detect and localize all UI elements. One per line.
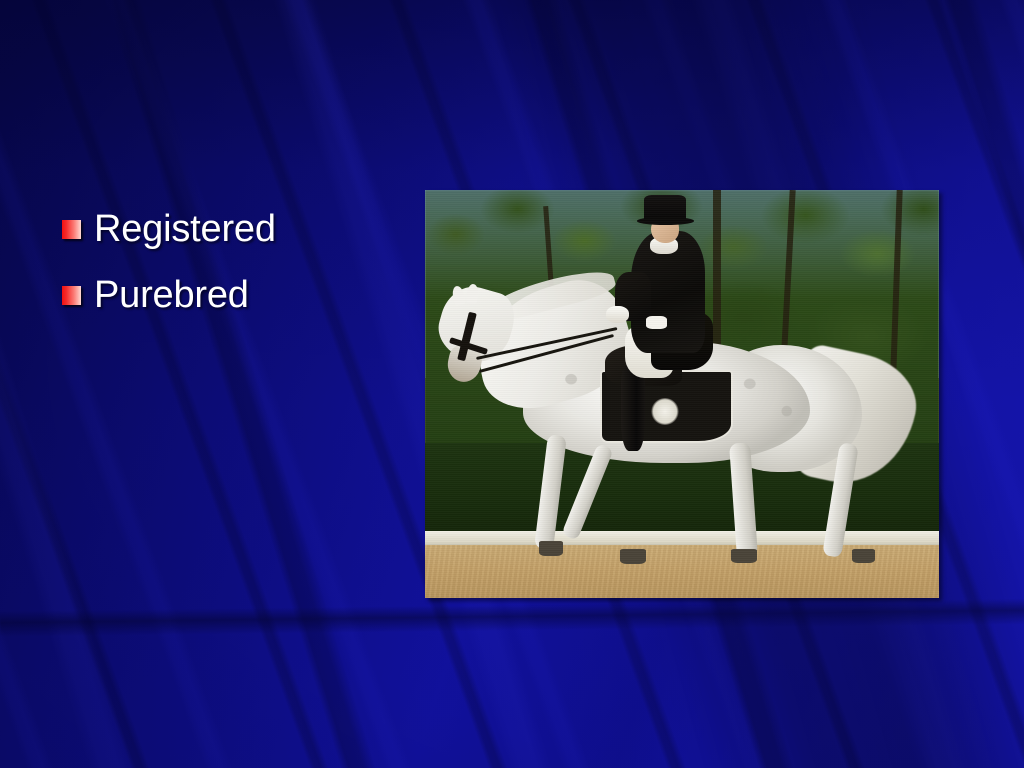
photo-horse-ear — [466, 283, 479, 303]
photo-rider-hat-brim — [637, 217, 694, 225]
slide-canvas: Registered Purebred — [0, 0, 1024, 768]
square-bullet-icon — [62, 220, 81, 239]
bullet-item-purebred: Purebred — [62, 262, 402, 328]
photo-horse-hoof — [620, 549, 646, 564]
photo-rider-glove — [606, 306, 629, 323]
photo-saddle-pad-emblem — [651, 398, 679, 425]
photo-rider-cuff — [646, 316, 667, 328]
photo-rider-boot — [621, 365, 645, 451]
horse-rider-photo — [425, 190, 939, 598]
square-bullet-icon — [62, 286, 81, 305]
bullet-item-registered: Registered — [62, 196, 402, 262]
photo-horse-hoof — [852, 549, 876, 563]
photo-watermark — [430, 587, 800, 598]
photo-horse-hoof — [731, 549, 757, 563]
photo-horse-hoof — [539, 541, 563, 556]
bullet-list: Registered Purebred — [62, 196, 402, 328]
bullet-item-label: Purebred — [94, 276, 249, 314]
bullet-item-label: Registered — [94, 210, 276, 248]
